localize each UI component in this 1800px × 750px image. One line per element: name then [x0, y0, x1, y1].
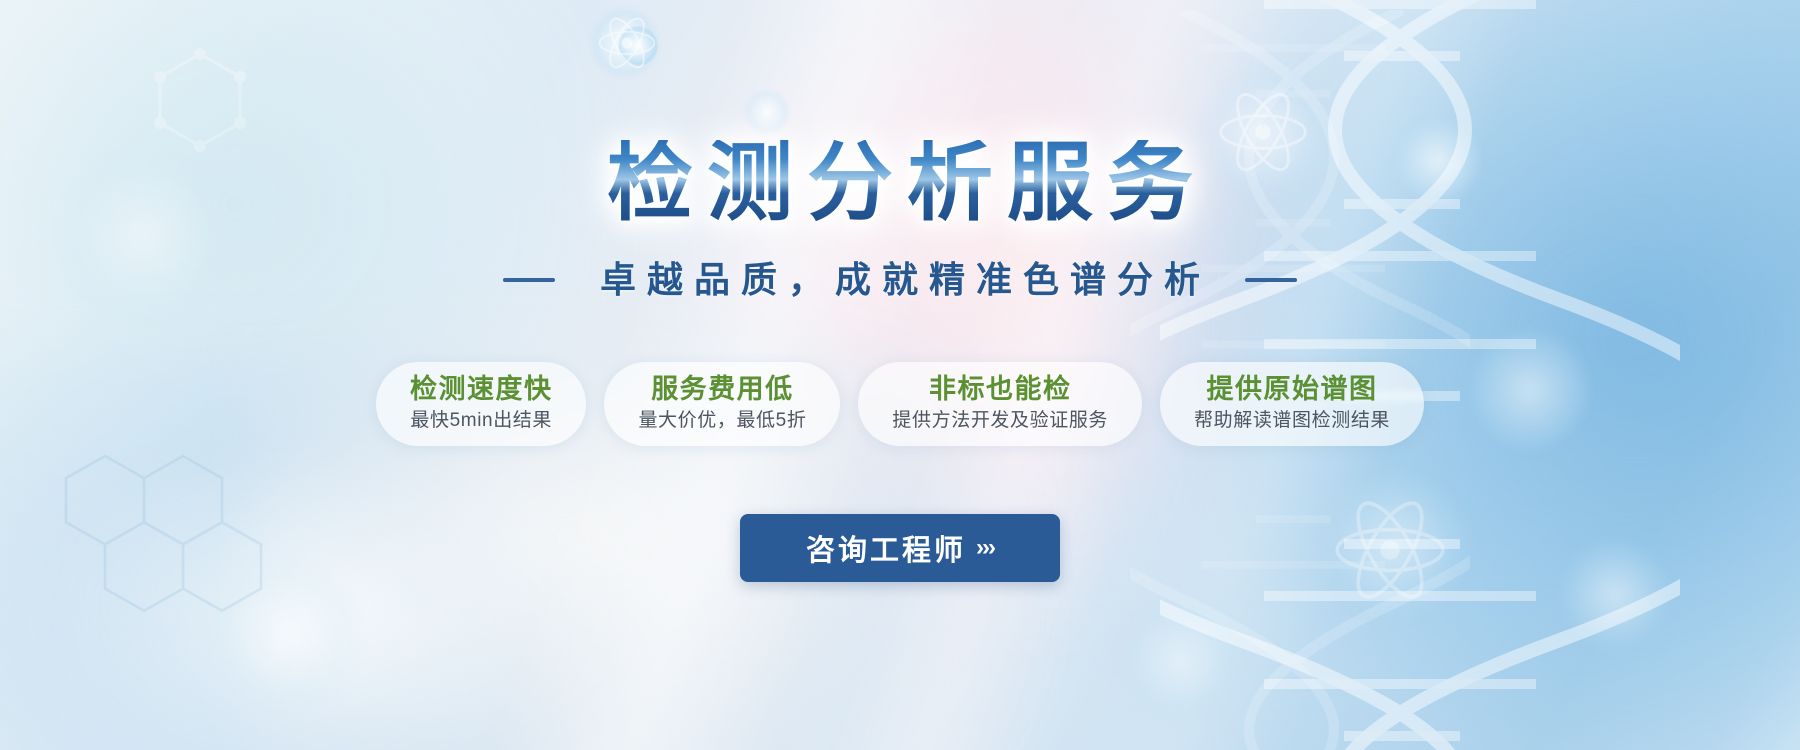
- feature-pill-raw-spectra[interactable]: 提供原始谱图 帮助解读谱图检测结果: [1160, 362, 1424, 446]
- feature-pill-nonstandard[interactable]: 非标也能检 提供方法开发及验证服务: [858, 362, 1142, 446]
- chevron-right-icon: ›››: [976, 534, 994, 562]
- feature-pill-price[interactable]: 服务费用低 量大价优，最低5折: [604, 362, 840, 446]
- subtitle-row: 卓越品质，成就精准色谱分析: [0, 262, 1800, 298]
- feature-pill-subtitle: 最快5min出结果: [410, 408, 552, 434]
- dash-right-decoration: [1245, 278, 1297, 282]
- feature-pill-subtitle: 帮助解读谱图检测结果: [1194, 408, 1390, 434]
- feature-pill-title: 提供原始谱图: [1207, 374, 1378, 404]
- feature-pill-speed[interactable]: 检测速度快 最快5min出结果: [376, 362, 587, 446]
- consult-engineer-button[interactable]: 咨询工程师 ›››: [740, 514, 1060, 582]
- feature-pill-subtitle: 提供方法开发及验证服务: [892, 408, 1108, 434]
- page-title-wrapper: 检测分析服务: [0, 140, 1800, 226]
- banner-content: 检测分析服务 检测分析服务 卓越品质，成就精准色谱分析 检测速度快 最快5min…: [0, 0, 1800, 750]
- feature-pill-list: 检测速度快 最快5min出结果 服务费用低 量大价优，最低5折 非标也能检 提供…: [0, 362, 1800, 446]
- feature-pill-subtitle: 量大价优，最低5折: [638, 408, 806, 434]
- feature-pill-title: 非标也能检: [929, 374, 1072, 404]
- page-subtitle: 卓越品质，成就精准色谱分析: [589, 262, 1211, 298]
- feature-pill-title: 检测速度快: [410, 374, 553, 404]
- feature-pill-title: 服务费用低: [651, 374, 794, 404]
- page-title: 检测分析服务: [593, 140, 1207, 226]
- cta-wrapper: 咨询工程师 ›››: [0, 514, 1800, 582]
- dash-left-decoration: [503, 278, 555, 282]
- promo-banner: 检测分析服务 检测分析服务 卓越品质，成就精准色谱分析 检测速度快 最快5min…: [0, 0, 1800, 750]
- cta-label: 咨询工程师: [806, 527, 966, 569]
